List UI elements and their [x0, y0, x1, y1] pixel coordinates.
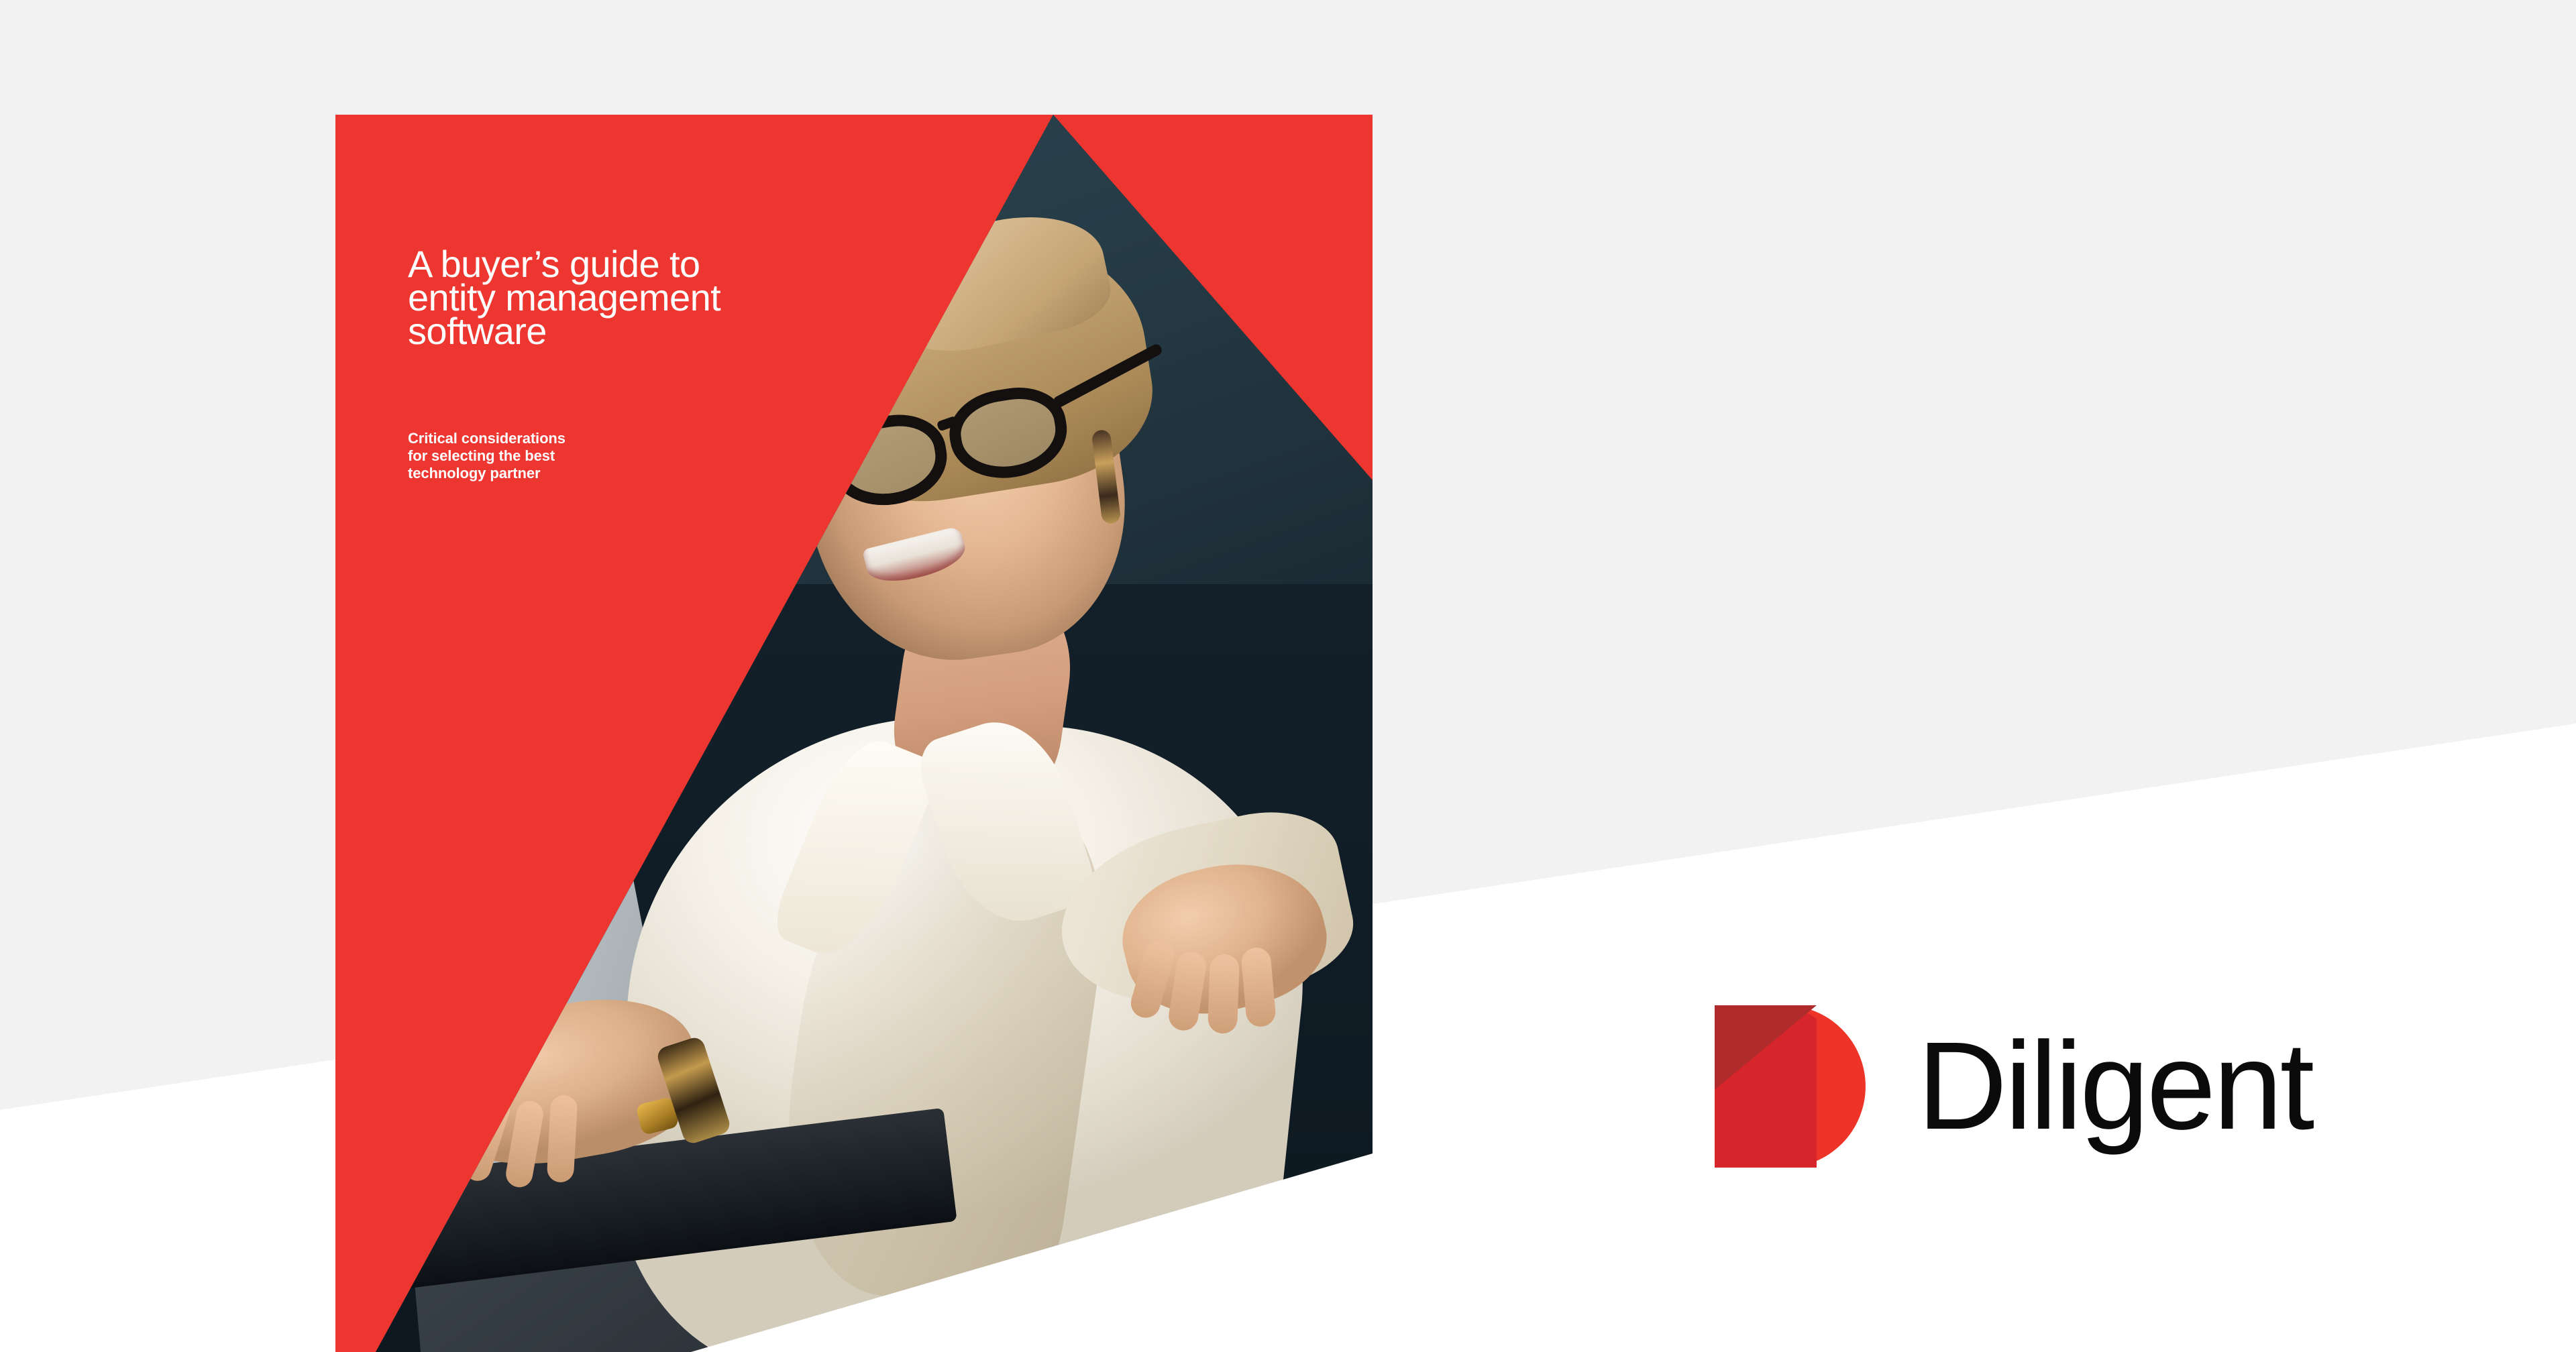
cover-surface: A buyer’s guide to entity management sof…: [335, 115, 1373, 1352]
eyeglass-lens-right: [943, 380, 1073, 486]
screenshot-stage: A buyer’s guide to entity management sof…: [0, 0, 2576, 1352]
ebook-cover[interactable]: A buyer’s guide to entity management sof…: [335, 115, 1373, 1352]
raised-hand-finger: [1207, 954, 1240, 1033]
cover-subtitle: Critical considerations for selecting th…: [408, 430, 696, 482]
typing-hand-finger: [419, 1079, 481, 1169]
eyeglass-lens-left: [824, 408, 953, 514]
cover-title: A buyer’s guide to entity management sof…: [408, 247, 945, 348]
typing-hand-finger: [547, 1094, 578, 1183]
diligent-d-mark-icon: [1715, 1005, 1873, 1168]
diligent-logo[interactable]: Diligent: [1715, 999, 2399, 1174]
diligent-wordmark: Diligent: [1917, 1024, 2312, 1149]
